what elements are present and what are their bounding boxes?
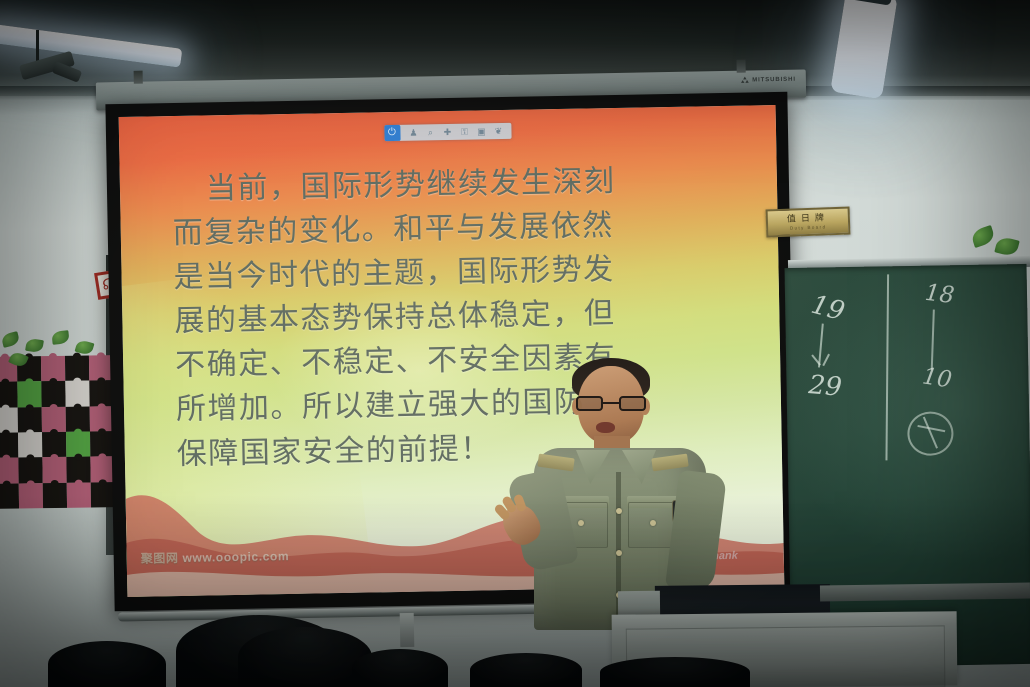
classroom-scene: ☊ MITSUBISHI: [0, 0, 1030, 687]
chalk-note-10: 10: [921, 363, 954, 393]
screen-pull-tab[interactable]: [400, 613, 415, 647]
glasses-bridge: [603, 402, 621, 404]
chalk-divider-line: [885, 274, 889, 460]
uniform-button: [616, 508, 622, 514]
image-icon[interactable]: ▣: [473, 123, 490, 139]
shield-icon[interactable]: ❦: [490, 123, 507, 139]
pocket-button-left: [578, 520, 584, 526]
mitsubishi-logo-icon: [741, 77, 749, 84]
puzzle-piece: [91, 482, 115, 508]
slide-floating-toolbar[interactable]: ⏻ ♟ ⌕ ✚ ⚿ ▣ ❦: [384, 123, 511, 141]
wall-plaque: 值日牌 Duty Board: [766, 207, 851, 238]
watermark-left-url: www.ooopic.com: [182, 549, 289, 565]
puzzle-piece: [0, 458, 19, 484]
uniform-button: [616, 550, 622, 556]
puzzle-wall-decoration: [0, 355, 115, 509]
watermark-left-cn: 聚图网: [141, 549, 179, 567]
puzzle-piece: [0, 433, 18, 459]
plus-icon[interactable]: ✚: [439, 124, 456, 140]
watermark-left: 聚图网 www.ooopic.com: [141, 547, 290, 567]
presenter-mouth: [596, 422, 615, 433]
puzzle-piece: [0, 407, 18, 433]
desk-rail: [820, 583, 1030, 602]
screen-mount-right: [736, 60, 745, 73]
puzzle-piece: [0, 382, 18, 408]
puzzle-piece: [67, 482, 91, 508]
screen-mount-left: [134, 71, 143, 84]
podium-knob: [618, 591, 660, 617]
presenter-glasses: [574, 396, 650, 411]
plaque-english-text: Duty Board: [790, 224, 827, 230]
puzzle-piece: [43, 482, 67, 508]
audience-head: [600, 657, 750, 687]
pocket-button-right: [650, 520, 656, 526]
chalk-note-29: 29: [807, 370, 843, 403]
audience-head: [470, 653, 582, 687]
chalk-connector-line: [931, 310, 935, 370]
search-icon[interactable]: ⌕: [422, 124, 439, 140]
projector-brand-text: MITSUBISHI: [752, 76, 796, 83]
puzzle-piece: [19, 483, 43, 509]
person-icon[interactable]: ♟: [405, 124, 422, 140]
chalk-note-19: 19: [808, 290, 848, 328]
plaque-chinese-text: 值日牌: [787, 213, 829, 223]
chalk-arrow-head-right: [822, 354, 830, 366]
power-logo-icon[interactable]: ⏻: [384, 125, 400, 141]
puzzle-piece: [0, 483, 19, 509]
glasses-lens-right: [619, 396, 646, 411]
audience-head: [48, 641, 166, 687]
chalk-note-18: 18: [924, 280, 956, 309]
projector-brand-label: MITSUBISHI: [741, 76, 796, 84]
glasses-lens-left: [576, 396, 603, 411]
audience-head: [352, 649, 448, 687]
lock-icon[interactable]: ⚿: [456, 124, 473, 140]
